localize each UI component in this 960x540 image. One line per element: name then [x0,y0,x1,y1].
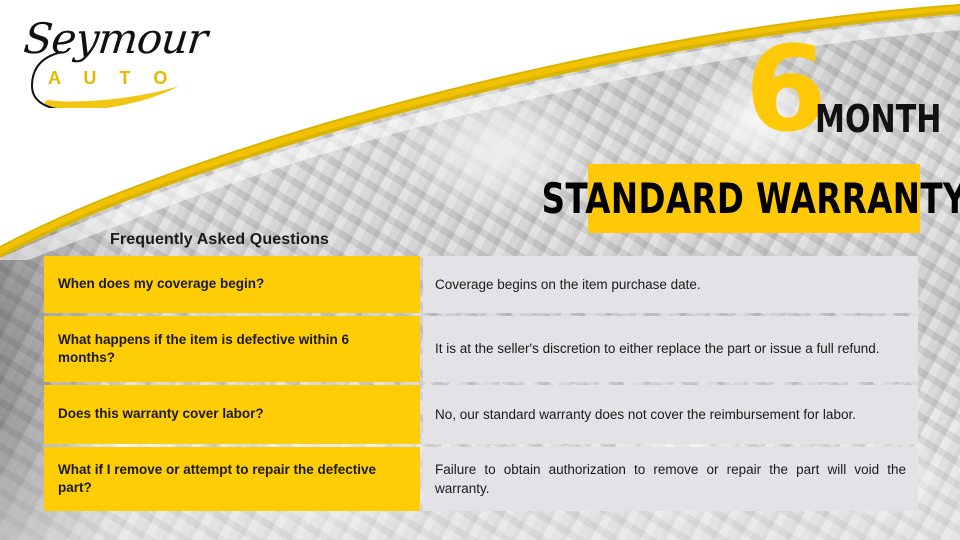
table-row: When does my coverage begin? Coverage be… [44,256,918,313]
table-row: Does this warranty cover labor? No, our … [44,385,918,444]
faq-answer: Coverage begins on the item purchase dat… [423,256,918,313]
duration-number: 6 [745,30,825,148]
faq-heading: Frequently Asked Questions [110,231,329,249]
table-row: What happens if the item is defective wi… [44,316,918,382]
duration-unit: MONTH [815,100,941,138]
faq-answer: It is at the seller's discretion to eith… [423,316,918,382]
brand-logo: Seymour A U T O [14,16,214,108]
faq-answer: No, our standard warranty does not cover… [423,385,918,444]
brand-name: Seymour [22,18,209,60]
table-row: What if I remove or attempt to repair th… [44,447,918,511]
faq-table: When does my coverage begin? Coverage be… [44,256,918,511]
faq-question: When does my coverage begin? [44,256,420,313]
warranty-slide: Seymour A U T O 6 MONTH STANDARD WARRANT… [0,0,960,540]
faq-answer-text: Coverage begins on the item purchase dat… [435,275,906,294]
faq-question: What happens if the item is defective wi… [44,316,420,382]
warranty-duration: 6 MONTH [745,46,945,156]
faq-question: Does this warranty cover labor? [44,385,420,444]
standard-warranty-banner: STANDARD WARRANTY [588,164,920,233]
faq-answer: Failure to obtain authorization to remov… [423,447,918,511]
warranty-banner-label: STANDARD WARRANTY [541,178,960,220]
faq-answer-text: Failure to obtain authorization to remov… [435,460,906,498]
faq-answer-text: It is at the seller's discretion to eith… [435,339,906,358]
faq-answer-text: No, our standard warranty does not cover… [435,405,906,424]
brand-subtitle: A U T O [48,68,176,89]
faq-question: What if I remove or attempt to repair th… [44,447,420,511]
